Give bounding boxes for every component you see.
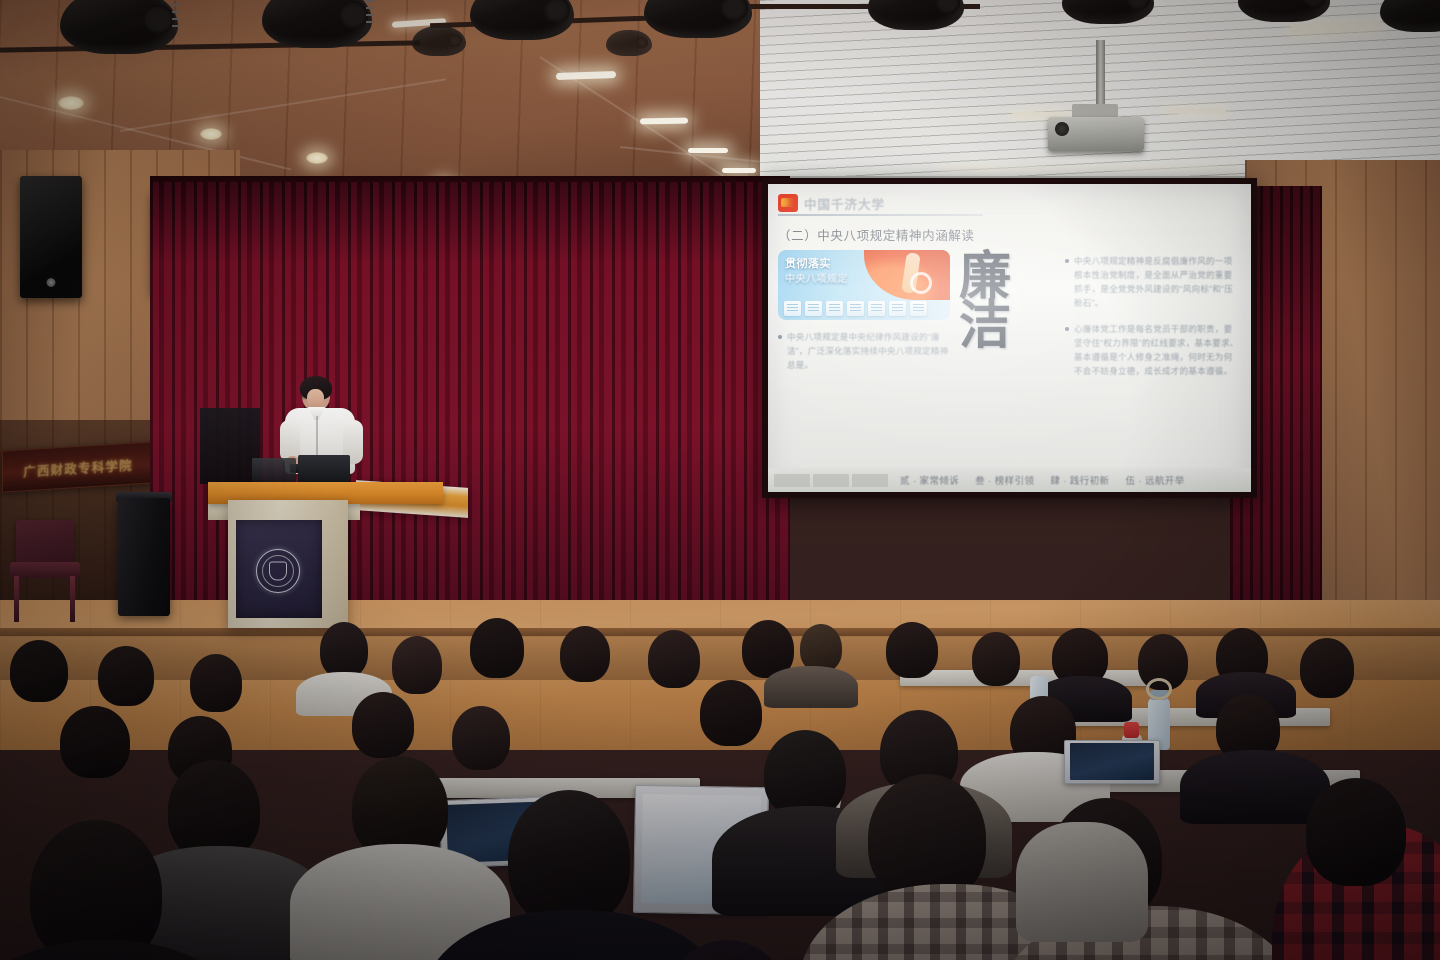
- audience-head: [972, 632, 1020, 686]
- podium-monitor: [298, 455, 350, 483]
- slide-bullet: 中央八项规定精神是反腐倡廉作风的一项根本性治党制度，是全面从严治党的重要抓手，是…: [1065, 254, 1241, 310]
- slide-footer: 贰 · 家常倾诉 叁 · 榜样引领 肆 · 践行初新 伍 · 远航开举: [768, 468, 1251, 492]
- trash-bin: [118, 498, 170, 616]
- stage-spotlight: [644, 0, 752, 38]
- infographic-card: 贯彻落实 中央八项规定: [778, 250, 950, 320]
- bottle-handle: [1146, 678, 1172, 700]
- laptop-screen: [1070, 743, 1155, 780]
- lecture-hall-photo: 广西财政专科学院 中国千济大学 （二）中央八项规定精神内涵解读: [0, 0, 1440, 960]
- audience-head: [648, 630, 700, 688]
- audience-head: [700, 680, 762, 746]
- venue-plaque-text: 广西财政专科学院: [23, 454, 133, 480]
- podium-monitor-secondary: [252, 458, 296, 482]
- audience-head: [508, 790, 630, 926]
- slide-bullet: 中央八项规定是中央纪律作风建设的“廉洁”，广泛深化落实持续中央八项规定精神总是。: [778, 330, 953, 372]
- audience-head: [392, 636, 442, 694]
- led-strip: [688, 148, 728, 153]
- audience-head: [560, 626, 610, 682]
- slide-footer-item: 伍 · 远航开举: [1125, 473, 1184, 487]
- stage-spotlight: [262, 0, 372, 48]
- slide-footer-tab: [852, 474, 888, 487]
- speaker-face: [307, 389, 324, 408]
- audience-area: [0, 610, 1440, 960]
- infographic-chip-icon: [847, 301, 864, 316]
- bullet-dot-icon: [1065, 327, 1069, 331]
- slide-footer-item: 贰 · 家常倾诉: [900, 473, 959, 487]
- left-speaker-1: [20, 176, 82, 298]
- podium-backdrop-panel: [200, 408, 260, 484]
- audience-head: [1306, 778, 1406, 886]
- side-chair: [8, 520, 84, 620]
- plaid-jacket-shoulders: [1016, 822, 1148, 942]
- projector-lens-icon: [1055, 122, 1069, 136]
- led-strip: [938, 166, 1238, 171]
- infographic-chip-icon: [826, 301, 843, 316]
- audience-head: [352, 692, 414, 758]
- bullet-dot-icon: [778, 335, 782, 339]
- infographic-chip-icon: [784, 301, 801, 316]
- slide-left-bullets: 中央八项规定是中央纪律作风建设的“廉洁”，广泛深化落实持续中央八项规定精神总是。: [778, 330, 953, 372]
- infographic-chip-row: [784, 301, 927, 316]
- slide-header-rule: [778, 214, 983, 216]
- audience-head: [868, 774, 986, 902]
- infographic-chip-icon: [805, 301, 822, 316]
- infographic-line1: 贯彻落实: [785, 255, 831, 271]
- slide-footer-tabs: [774, 474, 888, 487]
- stage-spotlight: [470, 0, 574, 40]
- infographic-line2: 中央八项规定: [785, 270, 848, 285]
- infographic-chip-icon: [868, 301, 885, 316]
- slide-calligraphy-column: 廉洁: [959, 250, 1059, 383]
- audience-head: [452, 706, 510, 770]
- slide-bullet-text: 中央八项规定精神是反腐倡廉作风的一项根本性治党制度，是全面从严治党的重要抓手，是…: [1074, 254, 1241, 310]
- chair-back: [16, 520, 74, 566]
- slide-footer-tab: [813, 474, 849, 487]
- presentation-slide: 中国千济大学 （二）中央八项规定精神内涵解读 贯彻落实 中央八项规定: [768, 184, 1251, 492]
- projection-screen[interactable]: 中国千济大学 （二）中央八项规定精神内涵解读 贯彻落实 中央八项规定: [768, 184, 1251, 492]
- audience-laptop[interactable]: [1064, 740, 1160, 784]
- audience-shoulders: [764, 666, 858, 708]
- audience-head: [886, 622, 938, 678]
- audience-shoulders: [1180, 750, 1330, 824]
- slide-footer-item: 叁 · 榜样引领: [975, 473, 1034, 487]
- audience-head: [800, 624, 842, 672]
- slide-bullet: 心廉体党工作是每名党员干部的职责，要坚守住“权力界限”的红线要求，基本要求、基本…: [1065, 322, 1241, 378]
- audience-head: [190, 654, 242, 712]
- audience-head: [30, 820, 162, 960]
- audience-head: [320, 622, 368, 678]
- stage-spotlight: [60, 0, 178, 54]
- slide-column-left: 贯彻落实 中央八项规定: [778, 250, 953, 383]
- audience-head: [168, 760, 260, 860]
- university-seal-icon: [256, 549, 300, 593]
- stage-spotlight: [412, 26, 466, 56]
- downlight: [200, 128, 222, 140]
- downlight: [306, 152, 328, 164]
- led-strip: [640, 118, 688, 125]
- audience-head: [764, 730, 846, 818]
- downlight: [58, 96, 84, 110]
- slide-footer-item: 肆 · 践行初新: [1050, 473, 1109, 487]
- infographic-ring-icon: [910, 272, 932, 294]
- thermos-cap: [1124, 722, 1139, 738]
- slide-body: 贯彻落实 中央八项规定: [778, 250, 1241, 383]
- projection-screen-frame: 中国千济大学 （二）中央八项规定精神内涵解读 贯彻落实 中央八项规定: [762, 178, 1257, 498]
- slide-logo-text: 中国千济大学: [804, 194, 885, 213]
- infographic-chip-icon: [889, 301, 906, 316]
- audience-head: [470, 618, 524, 678]
- university-logo-icon: [778, 194, 798, 212]
- slide-bullet-text: 中央八项规定是中央纪律作风建设的“廉洁”，广泛深化落实持续中央八项规定精神总是。: [787, 330, 953, 372]
- audience-head: [98, 646, 154, 706]
- slide-footer-items: 贰 · 家常倾诉 叁 · 榜样引领 肆 · 践行初新 伍 · 远航开举: [900, 473, 1185, 487]
- audience-head: [10, 640, 68, 702]
- slide-title: （二）中央八项规定精神内涵解读: [778, 225, 1241, 244]
- audience-head: [1300, 638, 1354, 698]
- stage-spotlight: [606, 30, 652, 56]
- slide-column-right: 中央八项规定精神是反腐倡廉作风的一项根本性治党制度，是全面从严治党的重要抓手，是…: [1065, 250, 1241, 383]
- slide-footer-tab: [774, 474, 810, 487]
- bullet-dot-icon: [1065, 259, 1069, 263]
- calligraphy-text: 廉洁: [959, 252, 1059, 351]
- slide-bullet-text: 心廉体党工作是每名党员干部的职责，要坚守住“权力界限”的红线要求，基本要求、基本…: [1074, 322, 1241, 378]
- led-strip: [722, 168, 756, 173]
- slide-header: 中国千济大学: [778, 190, 1241, 216]
- infographic-chip-icon: [910, 301, 927, 316]
- audience-head: [60, 706, 130, 778]
- led-strip: [1164, 107, 1226, 114]
